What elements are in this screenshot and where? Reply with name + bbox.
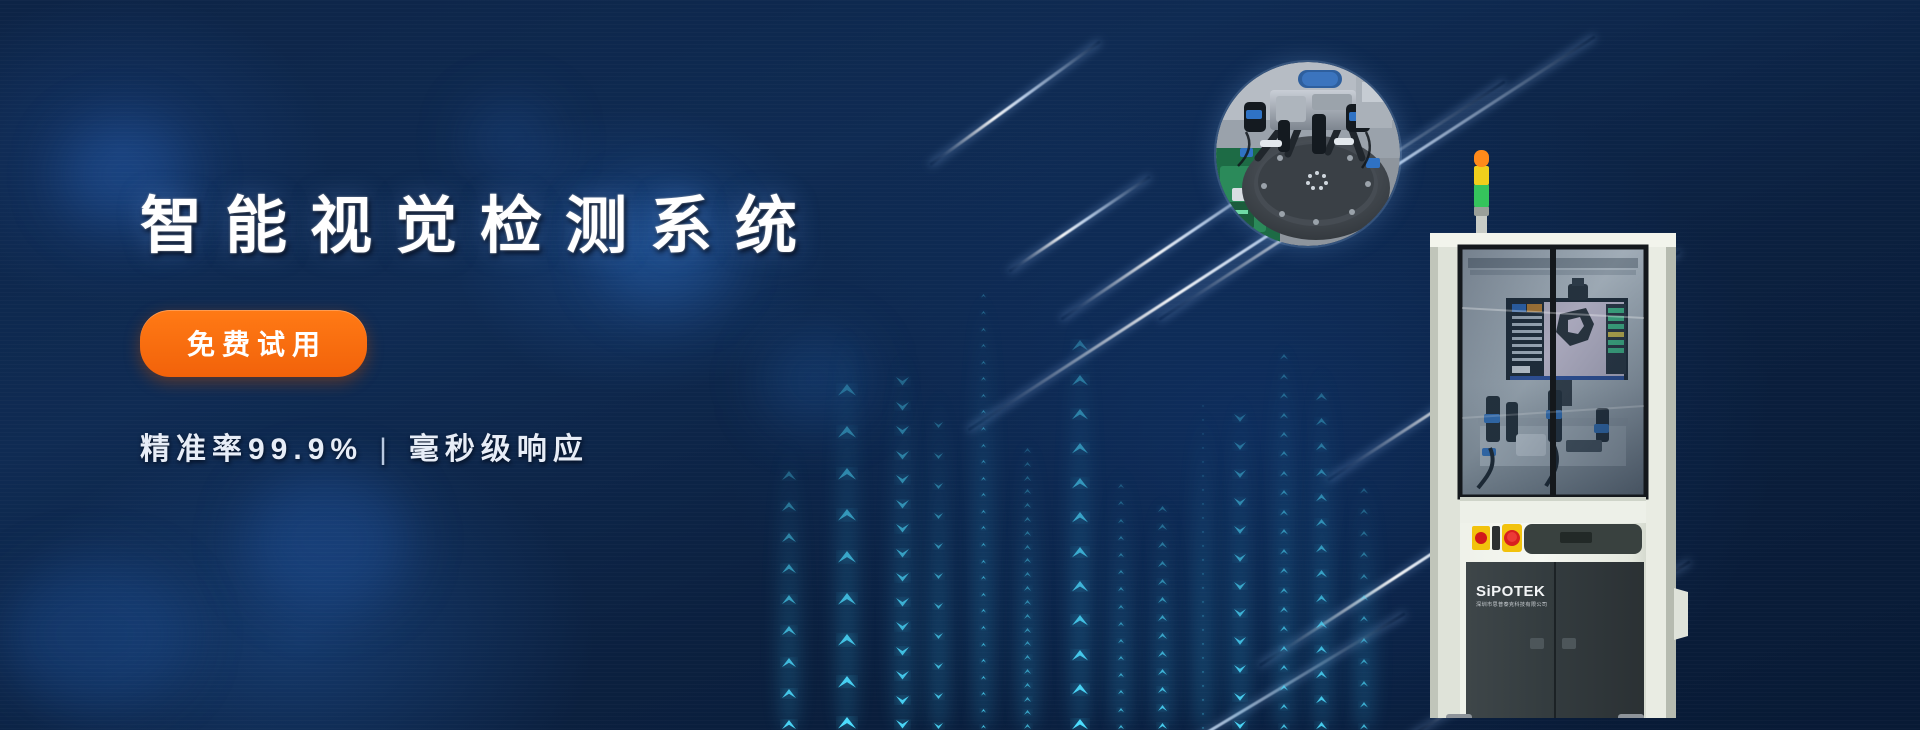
machine-illustration: SiPOTEK 深圳市思普泰克科技有限公司 — [1420, 118, 1720, 718]
stat-accuracy: 精准率99.9% — [140, 433, 363, 466]
page-title: 智能视觉检测系统 — [140, 196, 820, 258]
equalizer-column — [1022, 430, 1033, 730]
equalizer-column-glow — [1267, 330, 1301, 730]
free-trial-button[interactable]: 免费试用 — [140, 310, 367, 377]
equalizer-column-glow — [922, 380, 956, 730]
turntable-photo-inset — [1216, 62, 1400, 246]
turntable-illustration — [1216, 62, 1400, 246]
equalizer-column — [932, 380, 945, 730]
background-glow-blob — [466, 100, 556, 180]
svg-text:深圳市思普泰克科技有限公司: 深圳市思普泰克科技有限公司 — [1476, 600, 1547, 608]
hero-banner: SiPOTEK 深圳市思普泰克科技有限公司 智能视觉检测系统 免费试用 精准率9… — [0, 0, 1920, 730]
signal-tower-light — [1474, 150, 1489, 236]
equalizer-column-glow — [1305, 355, 1339, 730]
hero-copy-block: 智能视觉检测系统 免费试用 精准率99.9%|毫秒级响应 — [140, 196, 820, 468]
light-streak — [929, 40, 1101, 166]
equalizer-column — [1156, 490, 1169, 730]
equalizer-column-glow — [1104, 460, 1138, 730]
equalizer-column — [1314, 355, 1329, 730]
stat-separator: | — [363, 433, 409, 467]
background-glow-blob — [0, 560, 190, 710]
glass-door-frame — [1460, 247, 1646, 497]
equalizer-column-glow — [1011, 430, 1045, 730]
inspection-machine-photo: SiPOTEK 深圳市思普泰克科技有限公司 — [1420, 118, 1720, 718]
stat-response: 毫秒级响应 — [409, 433, 589, 466]
control-panel — [1524, 524, 1642, 554]
equalizer-column-glow — [772, 430, 806, 730]
equalizer-column-glow — [966, 280, 1000, 730]
equalizer-column — [1070, 300, 1090, 730]
equalizer-column-glow — [1347, 470, 1381, 730]
equalizer-column — [1278, 330, 1290, 730]
equalizer-column-glow — [1223, 385, 1257, 730]
chevron-equalizer-graphic — [780, 270, 1400, 730]
equalizer-column — [1116, 460, 1126, 730]
equalizer-column — [1358, 470, 1370, 730]
equalizer-column-glow — [1186, 400, 1220, 730]
equalizer-column — [894, 340, 911, 730]
light-streak — [1008, 175, 1151, 273]
background-glow-blob — [245, 470, 410, 610]
equalizer-column — [1232, 385, 1248, 730]
equalizer-column — [978, 280, 988, 730]
equalizer-column-glow — [1063, 300, 1097, 730]
hero-stats: 精准率99.9%|毫秒级响应 — [140, 424, 820, 468]
machine-brand-logo: SiPOTEK 深圳市思普泰克科技有限公司 — [1476, 583, 1547, 608]
equalizer-column — [780, 430, 798, 730]
svg-text:SiPOTEK: SiPOTEK — [1476, 583, 1545, 600]
equalizer-column — [836, 315, 858, 730]
equalizer-column — [1198, 400, 1208, 730]
equalizer-column-glow — [1146, 490, 1180, 730]
equalizer-column-glow — [830, 315, 864, 730]
equalizer-column-glow — [886, 340, 920, 730]
emergency-stop-buttons — [1472, 524, 1522, 552]
